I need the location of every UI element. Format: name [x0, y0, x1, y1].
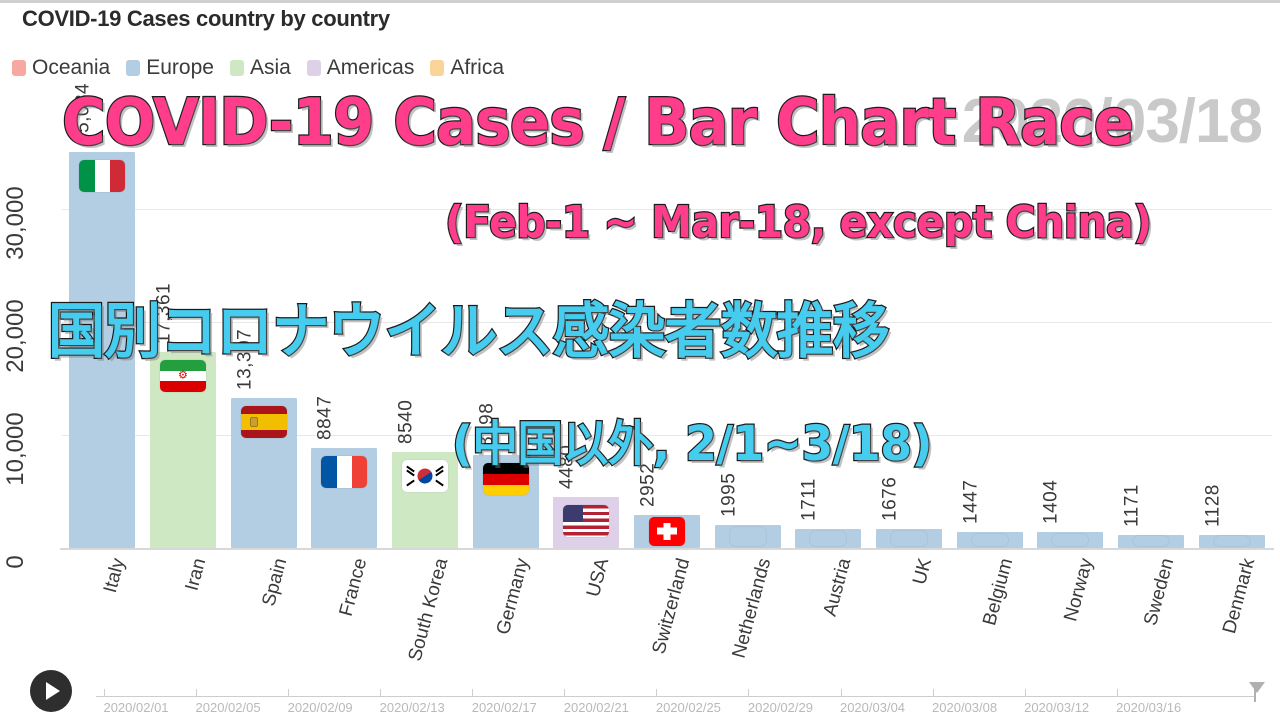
norway-flag	[1052, 534, 1088, 546]
legend-item-asia[interactable]: Asia	[230, 56, 291, 80]
timeline-tick-label: 2020/03/12	[1024, 700, 1089, 715]
bar-value-label: 1447	[960, 479, 982, 523]
legend-item-oceania[interactable]: Oceania	[12, 56, 110, 80]
y-axis-tick-label: 30,000	[2, 186, 30, 259]
x-axis-tick-label: Switzerland	[649, 556, 696, 657]
sweden-flag	[1133, 536, 1169, 546]
bar-column[interactable]: 1995	[715, 525, 781, 548]
bar-value-label: 1171	[1121, 484, 1143, 527]
timeline-tick	[104, 689, 105, 696]
italy-flag	[79, 160, 125, 192]
play-icon	[46, 682, 60, 700]
timeline-tick	[1025, 689, 1026, 696]
player-bar: 2020/02/012020/02/052020/02/092020/02/13…	[0, 654, 1280, 720]
x-axis-tick-label: Norway	[1061, 556, 1099, 624]
overlay-title-line4: (中国以外, 2/1~3/18)	[452, 404, 932, 474]
x-axis-tick-label: South Korea	[405, 556, 454, 664]
bar-column[interactable]: 1171	[1118, 535, 1184, 548]
timeline-tick-label: 2020/02/09	[288, 700, 353, 715]
legend-item-label: Europe	[146, 56, 214, 80]
legend-swatch-icon	[126, 60, 140, 76]
timeline-tick	[380, 689, 381, 696]
top-divider	[0, 0, 1280, 3]
x-axis-tick-label: Spain	[258, 556, 292, 609]
page-title: COVID-19 Cases country by country	[22, 6, 390, 32]
bar-value-label: 1676	[879, 477, 901, 521]
legend-swatch-icon	[12, 60, 26, 76]
timeline-tick-label: 2020/02/25	[656, 700, 721, 715]
y-axis-tick-label: 10,000	[2, 412, 30, 485]
x-axis-tick-label: Austria	[820, 556, 857, 619]
bar-column[interactable]: 13,307	[231, 398, 297, 548]
bar-column[interactable]: 2952	[634, 515, 700, 548]
timeline-tick-label: 2020/02/29	[748, 700, 813, 715]
x-axis-tick-label: Netherlands	[728, 556, 776, 661]
overlay-title-line3: 国別コロナウイルス感染者数推移	[48, 283, 889, 370]
overlay-title-line2: (Feb-1 ~ Mar-18, except China)	[445, 197, 1151, 248]
bar-column[interactable]: 1404	[1037, 532, 1103, 548]
overlay-title-line1: COVID-19 Cases / Bar Chart Race	[62, 86, 1133, 160]
timeline-tick	[748, 689, 749, 696]
bar-value-label: 1711	[799, 478, 821, 521]
netherlands-flag	[730, 527, 766, 546]
x-axis-tick-label: USA	[583, 556, 614, 599]
x-axis-tick-label: Denmark	[1219, 556, 1260, 636]
france-flag	[321, 456, 367, 488]
timeline-tick	[288, 689, 289, 696]
bar-column[interactable]: 1447	[957, 532, 1023, 548]
uk-flag	[891, 531, 927, 546]
timeline-tick	[472, 689, 473, 696]
legend-swatch-icon	[430, 60, 444, 76]
bar-column[interactable]: 1711	[795, 529, 861, 548]
timeline-tick	[564, 689, 565, 696]
timeline-tick	[841, 689, 842, 696]
x-axis-tick-label: Belgium	[979, 556, 1018, 628]
legend-item-africa[interactable]: Africa	[430, 56, 504, 80]
denmark-flag	[1214, 536, 1250, 546]
south-korea-flag	[402, 460, 448, 492]
austria-flag	[810, 531, 846, 546]
bar-column[interactable]: 1128	[1199, 535, 1265, 548]
timeline-tick	[656, 689, 657, 696]
bar-column[interactable]: 1676	[876, 529, 942, 548]
legend-item-label: Oceania	[32, 56, 110, 80]
timeline-slider[interactable]: 2020/02/012020/02/052020/02/092020/02/13…	[96, 696, 1256, 697]
spain-flag	[241, 406, 287, 438]
timeline-tick-label: 2020/02/13	[380, 700, 445, 715]
x-axis-baseline	[60, 548, 1274, 550]
bar-value-label: 1995	[718, 473, 740, 517]
legend-item-label: Africa	[450, 56, 504, 80]
x-axis-tick-label: Germany	[492, 556, 533, 637]
timeline-tick	[933, 689, 934, 696]
belgium-flag	[972, 534, 1008, 546]
x-axis-tick-label: Italy	[100, 556, 130, 595]
bar-chart-race-screen: COVID-19 Cases country by country Oceani…	[0, 0, 1280, 720]
timeline-tick-label: 2020/02/17	[472, 700, 537, 715]
timeline-tick	[196, 689, 197, 696]
bar-value-label: 1404	[1041, 480, 1063, 524]
legend-swatch-icon	[307, 60, 321, 76]
x-axis-tick-label: France	[336, 556, 373, 619]
play-button[interactable]	[30, 670, 72, 712]
legend-item-label: Americas	[327, 56, 415, 80]
legend: OceaniaEuropeAsiaAmericasAfrica	[12, 56, 504, 80]
bar-value-label: 8540	[395, 399, 417, 443]
timeline-handle[interactable]	[1249, 682, 1265, 693]
bar-value-label: 8847	[315, 396, 337, 440]
bar-column[interactable]: 8540	[392, 452, 458, 549]
bar-column[interactable]: 8847	[311, 448, 377, 548]
x-axis-tick-label: Sweden	[1140, 556, 1179, 628]
y-axis-tick-label: 0	[2, 555, 30, 568]
x-axis-tick-label: UK	[909, 556, 937, 587]
timeline-tick-label: 2020/03/04	[840, 700, 905, 715]
x-axis-tick-label: Iran	[182, 556, 212, 593]
bar-column[interactable]: 4480	[553, 497, 619, 548]
y-axis-tick-label: 20,000	[2, 299, 30, 372]
timeline-tick-label: 2020/03/16	[1116, 700, 1181, 715]
timeline-tick-label: 2020/02/01	[103, 700, 168, 715]
usa-flag	[563, 505, 609, 537]
timeline-tick-label: 2020/03/08	[932, 700, 997, 715]
timeline-tick	[1117, 689, 1118, 696]
timeline-tick-label: 2020/02/21	[564, 700, 629, 715]
legend-item-europe[interactable]: Europe	[126, 56, 214, 80]
timeline-tick-label: 2020/02/05	[196, 700, 261, 715]
bar-column[interactable]: ⚙17,361	[150, 352, 216, 548]
legend-swatch-icon	[230, 60, 244, 76]
bar-value-label: 1128	[1202, 484, 1224, 527]
legend-item-label: Asia	[250, 56, 291, 80]
legend-item-americas[interactable]: Americas	[307, 56, 415, 80]
switzerland-flag	[649, 517, 685, 546]
